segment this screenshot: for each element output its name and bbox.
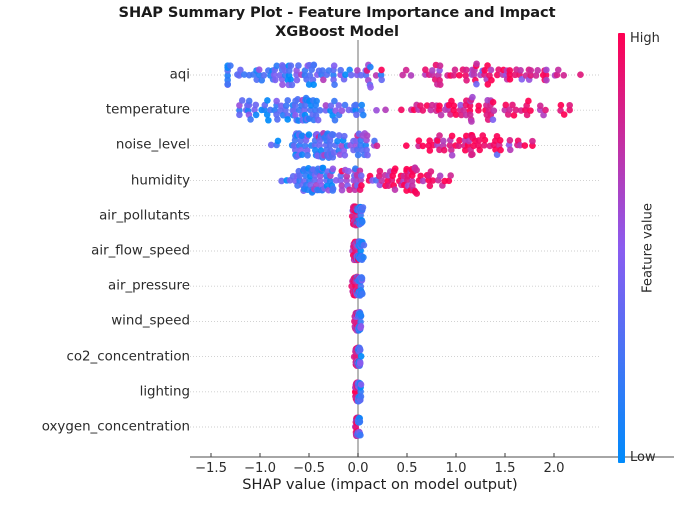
colorbar-axis-label: Feature value (641, 203, 656, 293)
shap-point (436, 132, 443, 139)
shap-point (449, 152, 456, 159)
shap-point (358, 381, 365, 388)
shap-point (377, 168, 384, 175)
shap-point (438, 112, 445, 119)
colorbar-high-label: High (630, 31, 660, 46)
shap-point (373, 107, 380, 114)
shap-point (331, 81, 338, 88)
shap-point (522, 142, 529, 149)
shap-point (288, 62, 295, 69)
shap-point (469, 151, 476, 158)
shap-point (420, 178, 427, 185)
shap-point (537, 103, 544, 110)
shap-point (275, 138, 282, 145)
shap-point (339, 107, 346, 114)
shap-point (452, 67, 459, 74)
shap-summary-figure: SHAP Summary Plot - Feature Importance a… (0, 0, 674, 506)
shap-point (256, 66, 263, 73)
shap-point (491, 107, 498, 114)
shap-point (358, 313, 365, 320)
shap-point (558, 102, 565, 109)
shap-point (330, 166, 337, 173)
shap-point (506, 67, 513, 74)
shap-point (358, 353, 365, 360)
shap-point (289, 82, 296, 89)
shap-point (392, 165, 399, 172)
shap-point (357, 432, 364, 439)
shap-point (337, 67, 344, 74)
shap-point (264, 97, 271, 104)
shap-point (566, 102, 573, 109)
scatter-points (224, 60, 583, 439)
colorbar: High Low Feature value (618, 33, 674, 463)
shap-point (555, 67, 562, 74)
shap-point (367, 84, 374, 91)
shap-point (358, 323, 365, 330)
shap-point (274, 116, 281, 123)
shap-point (473, 60, 480, 67)
shap-point (543, 77, 550, 84)
beeswarm-canvas (0, 0, 674, 506)
shap-point (295, 62, 302, 69)
colorbar-low-label: Low (630, 450, 656, 465)
shap-point (507, 137, 514, 144)
shap-point (358, 102, 365, 109)
shap-point (341, 133, 348, 140)
shap-point (490, 99, 497, 106)
shap-point (403, 67, 410, 74)
shap-point (447, 172, 454, 179)
shap-point (315, 117, 322, 124)
shap-point (392, 186, 399, 193)
shap-point (527, 107, 534, 114)
x-axis-label: SHAP value (impact on model output) (190, 476, 570, 493)
shap-point (239, 97, 246, 104)
shap-point (353, 111, 360, 118)
shap-point (357, 419, 364, 426)
shap-point (398, 107, 405, 114)
shap-point (463, 77, 470, 84)
shap-point (313, 98, 320, 105)
shap-point (468, 118, 475, 125)
shap-point (475, 103, 482, 110)
shap-point (413, 190, 420, 197)
shap-point (420, 143, 427, 150)
shap-point (561, 111, 568, 118)
shap-point (529, 138, 536, 145)
shap-point (497, 147, 504, 154)
shap-point (253, 112, 260, 119)
shap-point (261, 72, 268, 79)
shap-point (490, 116, 497, 123)
shap-point (357, 347, 364, 354)
gridlines (190, 75, 600, 427)
shap-point (311, 62, 318, 69)
shap-point (534, 67, 541, 74)
x-axis-ticks (211, 453, 554, 457)
shap-point (359, 291, 366, 298)
shap-point (353, 102, 360, 109)
shap-point (360, 204, 367, 211)
shap-point (507, 147, 514, 154)
shap-point (361, 242, 368, 249)
shap-point (440, 138, 447, 145)
shap-point (374, 142, 381, 149)
shap-point (527, 67, 534, 74)
shap-point (359, 275, 366, 282)
shap-point (429, 67, 436, 74)
shap-point (488, 77, 495, 84)
shap-point (358, 393, 365, 400)
shap-point (294, 77, 301, 84)
shap-point (378, 77, 385, 84)
shap-point (236, 112, 243, 119)
shap-point (413, 167, 420, 174)
shap-point (560, 72, 567, 79)
shap-point (497, 137, 504, 144)
shap-point (306, 131, 313, 138)
shap-point (382, 107, 389, 114)
shap-point (247, 116, 254, 123)
shap-point (543, 67, 550, 74)
shap-point (358, 182, 365, 189)
shap-point (279, 81, 286, 88)
shap-point (428, 168, 435, 175)
shap-point (507, 76, 514, 83)
shap-point (378, 67, 385, 74)
shap-point (441, 147, 448, 154)
shap-point (463, 67, 470, 74)
shap-point (416, 137, 423, 144)
shap-point (488, 67, 495, 74)
shap-point (273, 98, 280, 105)
shap-point (330, 185, 337, 192)
shap-point (304, 152, 311, 159)
shap-point (345, 168, 352, 175)
shap-point (451, 102, 458, 109)
shap-point (284, 116, 291, 123)
shap-point (364, 152, 371, 159)
shap-point (525, 98, 532, 105)
shap-point (449, 133, 456, 140)
shap-point (224, 81, 231, 88)
shap-point (517, 67, 524, 74)
shap-point (348, 72, 355, 79)
shap-point (542, 107, 549, 114)
shap-point (364, 132, 371, 139)
shap-point (332, 117, 339, 124)
shap-point (482, 137, 489, 144)
shap-point (339, 187, 346, 194)
shap-point (330, 132, 337, 139)
shap-point (403, 142, 410, 149)
shap-point (252, 102, 259, 109)
shap-point (355, 152, 362, 159)
shap-point (317, 107, 324, 114)
shap-point (360, 254, 367, 261)
plot-axes: aqitemperaturenoise_levelhumidityair_pol… (0, 0, 674, 506)
shap-point (227, 62, 234, 69)
shap-point (357, 360, 364, 367)
shap-point (437, 173, 444, 180)
shap-point (408, 72, 415, 79)
shap-point (436, 102, 443, 109)
shap-point (473, 81, 480, 88)
shap-point (342, 152, 349, 159)
shap-point (360, 112, 367, 119)
colorbar-gradient-bar (618, 33, 625, 463)
shap-point (359, 219, 366, 226)
shap-point (469, 94, 476, 101)
shap-point (437, 62, 444, 69)
shap-point (367, 64, 374, 71)
shap-point (358, 172, 365, 179)
shap-point (265, 117, 272, 124)
shap-point (331, 62, 338, 69)
shap-point (577, 71, 584, 78)
shap-point (456, 72, 463, 79)
shap-point (246, 98, 253, 105)
shap-point (284, 97, 291, 104)
shap-point (310, 81, 317, 88)
shap-point (437, 81, 444, 88)
